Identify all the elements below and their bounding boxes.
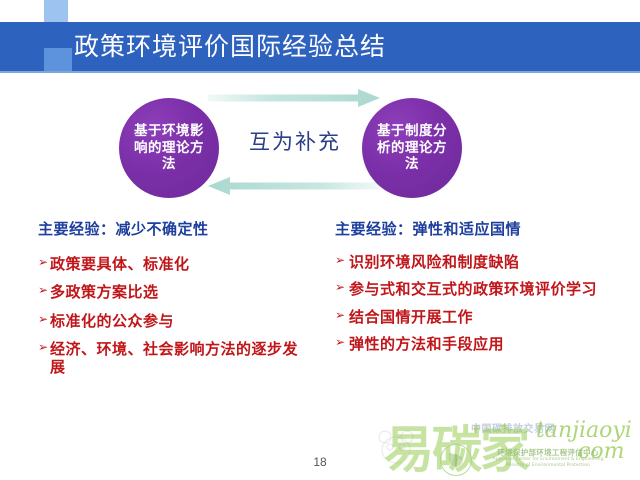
bullet-arrow-icon: ➢	[335, 308, 346, 323]
bullet-arrow-icon: ➢	[335, 280, 346, 295]
decor-square-dark	[44, 48, 72, 72]
list-item: ➢ 弹性的方法和手段应用	[335, 335, 625, 353]
arrow-left-icon	[208, 176, 380, 196]
column-left-bullet-list: ➢ 政策要具体、标准化 ➢ 多政策方案比选 ➢ 标准化的公众参与 ➢ 经济、环境…	[38, 255, 313, 376]
list-item: ➢ 标准化的公众参与	[38, 312, 313, 330]
column-right-bullet-list: ➢ 识别环境风险和制度缺陷 ➢ 参与式和交互式的政策环境评价学习 ➢ 结合国情开…	[335, 253, 625, 353]
watermark-brand: 易碳家	[384, 410, 528, 480]
column-left-heading: 主要经验：减少不确定性	[38, 218, 313, 239]
diagram-circle-left: 基于环境影响的理论方法	[119, 98, 219, 198]
slide-canvas: 政策环境评价国际经验总结	[0, 0, 640, 480]
column-left: 主要经验：减少不确定性 ➢ 政策要具体、标准化 ➢ 多政策方案比选 ➢ 标准化的…	[38, 218, 313, 386]
watermark-url-line1: tanjiaoyi	[536, 418, 632, 443]
list-item-label: 参与式和交互式的政策环境评价学习	[349, 280, 597, 298]
list-item-label: 多政策方案比选	[50, 283, 159, 301]
diagram-circle-right: 基于制度分析的理论方法	[362, 98, 462, 198]
column-right: 主要经验：弹性和适应国情 ➢ 识别环境风险和制度缺陷 ➢ 参与式和交互式的政策环…	[335, 218, 625, 362]
arrow-right-icon	[208, 88, 380, 108]
slide-title: 政策环境评价国际经验总结	[74, 22, 386, 72]
list-item-label: 标准化的公众参与	[50, 312, 174, 330]
watermark-logo-text: 中国碳排放交易网	[471, 420, 555, 435]
bullet-arrow-icon: ➢	[38, 283, 49, 298]
list-item-label: 经济、环境、社会影响方法的逐步发展	[50, 340, 298, 376]
list-item-label: 结合国情开展工作	[349, 308, 473, 326]
diagram-circle-left-label: 基于环境影响的理论方法	[129, 123, 209, 172]
list-item: ➢ 多政策方案比选	[38, 283, 313, 301]
bullet-arrow-icon: ➢	[38, 312, 49, 327]
list-item: ➢ 参与式和交互式的政策环境评价学习	[335, 280, 625, 298]
list-item-label: 识别环境风险和制度缺陷	[349, 253, 520, 271]
bullet-arrow-icon: ➢	[335, 253, 346, 268]
bullet-arrow-icon: ➢	[335, 335, 346, 350]
diagram-circle-right-label: 基于制度分析的理论方法	[372, 123, 452, 172]
diagram-center-label: 互为补充	[225, 126, 365, 156]
list-item: ➢ 结合国情开展工作	[335, 308, 625, 326]
list-item: ➢ 政策要具体、标准化	[38, 255, 313, 273]
bullet-arrow-icon: ➢	[38, 340, 49, 355]
list-item-label: 政策要具体、标准化	[50, 255, 190, 273]
column-right-heading: 主要经验：弹性和适应国情	[335, 218, 625, 239]
list-item: ➢ 经济、环境、社会影响方法的逐步发展	[38, 340, 313, 377]
bullet-arrow-icon: ➢	[38, 255, 49, 270]
list-item-label: 弹性的方法和手段应用	[349, 335, 504, 353]
page-number: 18	[0, 455, 640, 469]
list-item: ➢ 识别环境风险和制度缺陷	[335, 253, 625, 271]
